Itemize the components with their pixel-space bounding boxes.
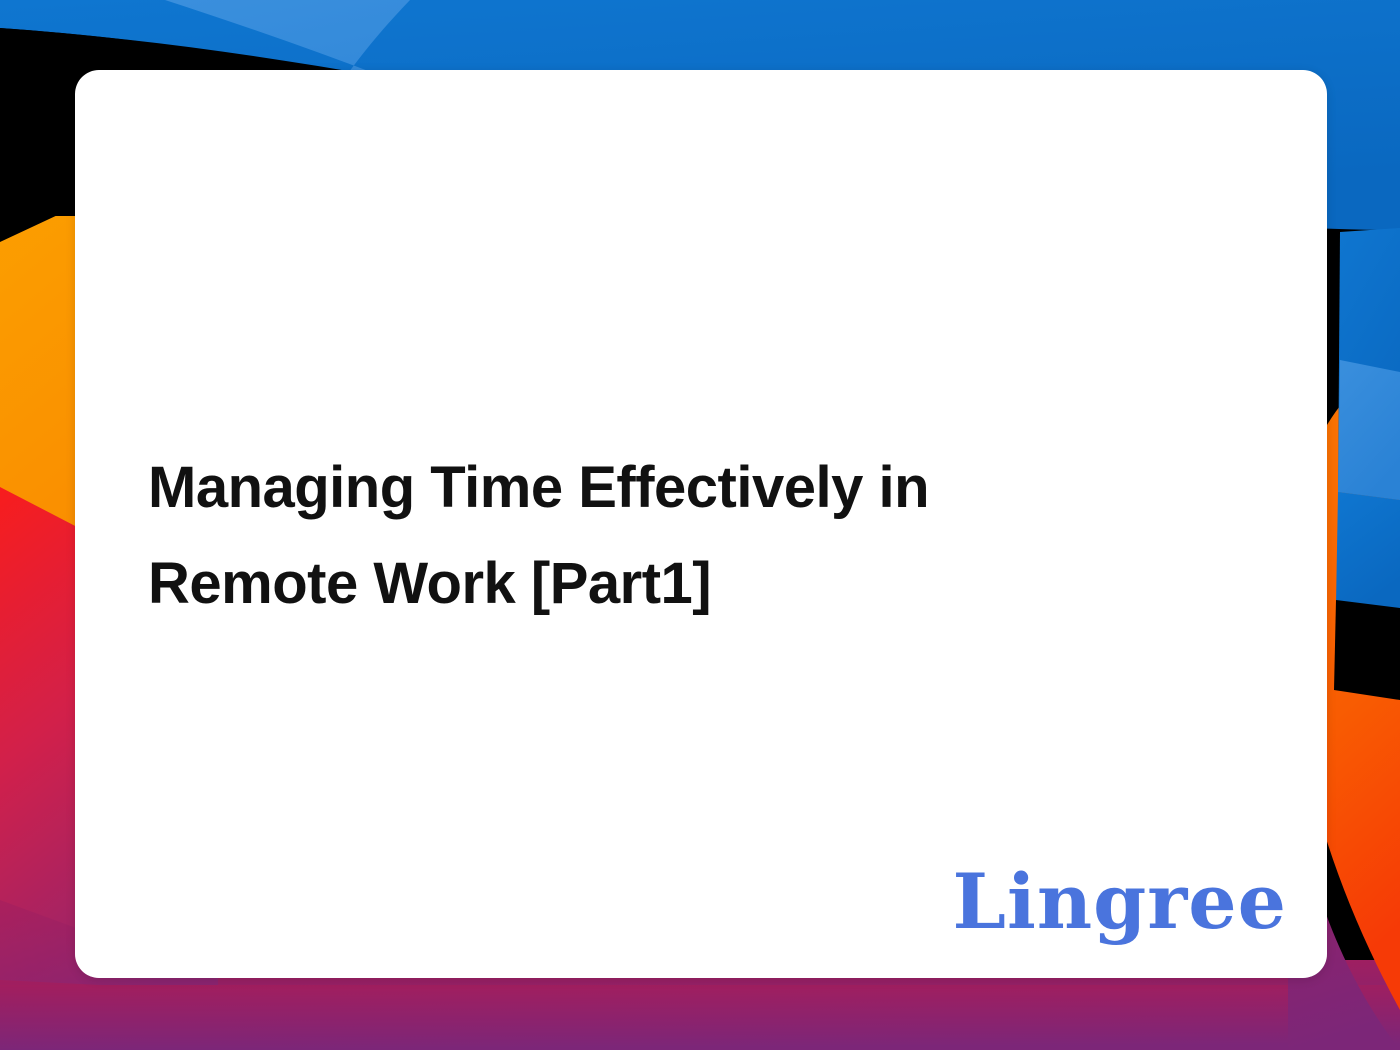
background-shape-black-right — [1334, 600, 1400, 700]
presentation-slide: Managing Time Effectively in Remote Work… — [0, 0, 1400, 1050]
background-shape-purple-base — [0, 985, 1400, 1050]
background-shape-blue-right-light — [1338, 360, 1400, 500]
page-title: Managing Time Effectively in Remote Work… — [148, 440, 1098, 632]
brand-logo: Lingree — [953, 864, 1287, 940]
background-shape-blue-right-lower — [1336, 492, 1400, 610]
slide-content-card: Managing Time Effectively in Remote Work… — [75, 70, 1327, 978]
